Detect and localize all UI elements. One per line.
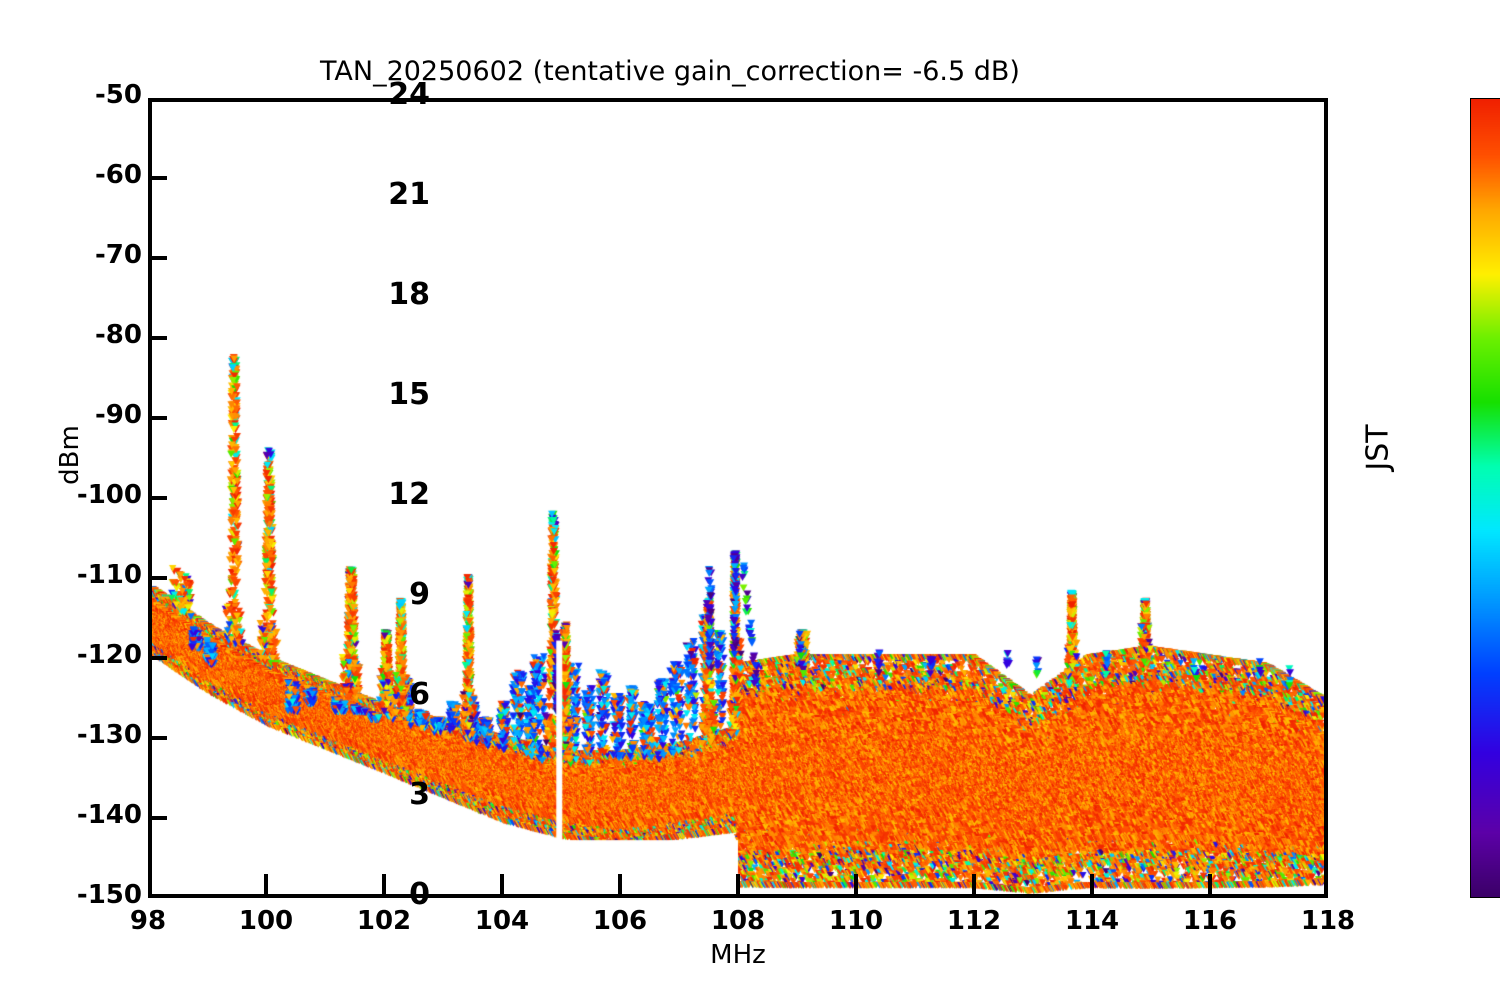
y-tick-label: -140 [77,800,142,830]
x-tick-mark [618,874,622,894]
y-tick-mark [148,736,167,740]
y-tick-label: -130 [77,720,142,750]
x-tick-label: 112 [914,906,1034,936]
y-tick-mark [148,816,167,820]
y-tick-mark [148,656,167,660]
x-tick-mark [382,874,386,894]
y-tick-label: -60 [95,160,142,190]
y-tick-label: -80 [95,320,142,350]
x-tick-label: 98 [88,906,208,936]
x-tick-label: 106 [560,906,680,936]
colorbar-gradient [1470,98,1500,898]
colorbar-tick-label: 21 [388,177,430,212]
x-tick-label: 118 [1268,906,1388,936]
colorbar-tick-label: 18 [388,277,430,312]
x-tick-mark [264,874,268,894]
y-tick-label: -100 [77,480,142,510]
colorbar [1470,98,1500,898]
colorbar-tick-label: 0 [409,877,430,912]
y-tick-mark [148,176,167,180]
y-tick-label: -50 [95,80,142,110]
colorbar-tick-label: 6 [409,677,430,712]
scatter-plot-canvas [152,102,1324,894]
x-tick-label: 104 [442,906,562,936]
y-tick-mark [148,496,167,500]
colorbar-tick-label: 3 [409,777,430,812]
y-tick-mark [148,416,167,420]
colorbar-tick-label: 24 [388,77,430,112]
x-tick-mark [500,874,504,894]
y-tick-label: -70 [95,240,142,270]
colorbar-tick-label: 15 [388,377,430,412]
y-tick-label: -120 [77,640,142,670]
x-tick-mark [1090,874,1094,894]
y-tick-mark [148,576,167,580]
colorbar-tick-label: 12 [388,477,430,512]
x-tick-mark [972,874,976,894]
x-tick-label: 108 [678,906,798,936]
x-tick-label: 100 [206,906,326,936]
x-tick-mark [736,874,740,894]
y-tick-mark [148,256,167,260]
x-tick-label: 110 [796,906,916,936]
x-tick-mark [854,874,858,894]
x-tick-mark [1208,874,1212,894]
x-tick-label: 116 [1150,906,1270,936]
x-tick-label: 114 [1032,906,1152,936]
y-tick-label: -90 [95,400,142,430]
colorbar-title: JST [1361,388,1396,508]
x-axis-label: MHz [148,940,1328,970]
y-tick-label: -110 [77,560,142,590]
colorbar-tick-label: 9 [409,577,430,612]
figure-root: TAN_20250602 (tentative gain_correction=… [0,0,1500,1000]
chart-title: TAN_20250602 (tentative gain_correction=… [0,56,1340,87]
y-tick-mark [148,336,167,340]
